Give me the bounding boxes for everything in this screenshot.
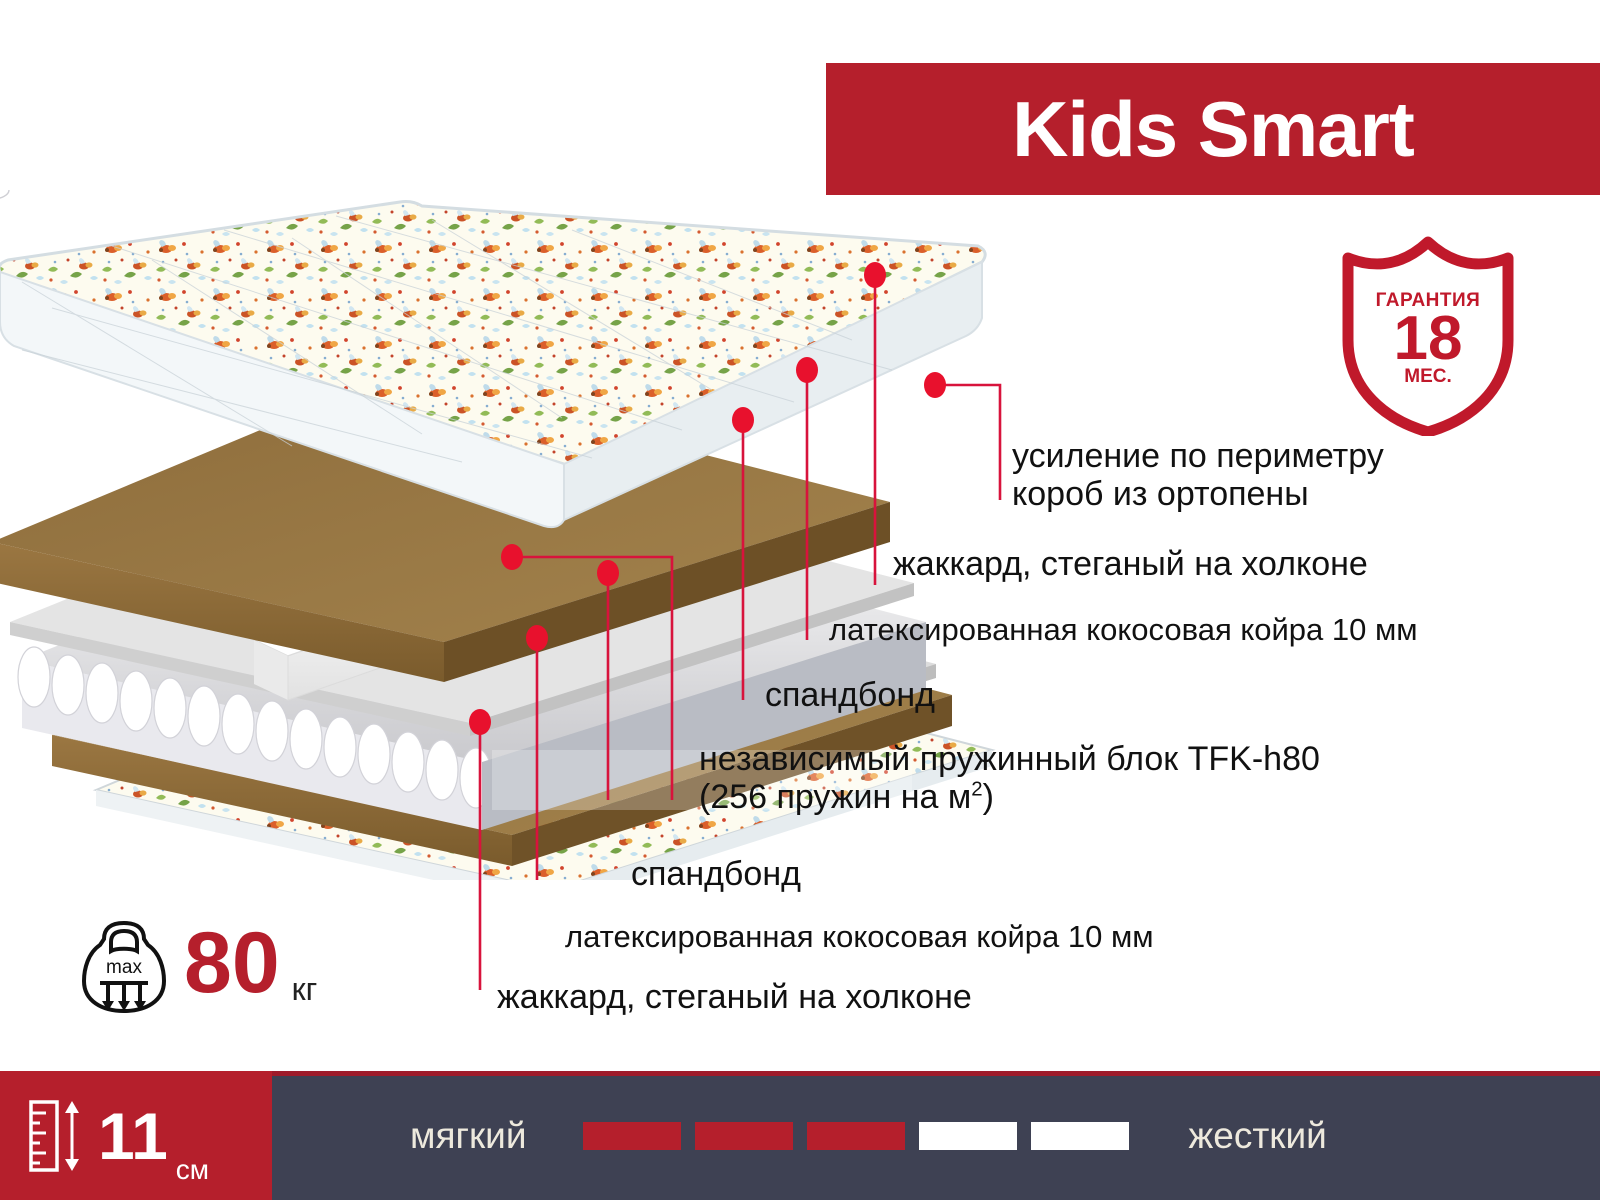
callout-label-coir-bottom: латексированная кокосовая койра 10 мм (565, 920, 1154, 955)
firmness-segment-5 (1031, 1122, 1129, 1150)
max-weight-unit: кг (292, 971, 318, 1008)
max-weight-indicator: max 80 кг (78, 905, 498, 1020)
firmness-segment-3 (807, 1122, 905, 1150)
firmness-segment-4 (919, 1122, 1017, 1150)
firmness-soft-label: мягкий (410, 1115, 527, 1157)
callout-label-perimeter: усиление по периметру короб из ортопены (1012, 437, 1384, 513)
callout-label-coir-top: латексированная кокосовая койра 10 мм (829, 613, 1418, 648)
product-title-bar: Kids Smart (826, 63, 1600, 195)
warranty-shield-badge: ГАРАНТИЯ 18 МЕС. (1338, 236, 1518, 436)
shield-value: 18 (1394, 310, 1463, 369)
firmness-segment-2 (695, 1122, 793, 1150)
kettlebell-max-label: max (106, 957, 142, 978)
ruler-icon (28, 1099, 86, 1173)
mattress-height-unit: см (176, 1154, 209, 1186)
max-weight-value: 80 (184, 920, 280, 1006)
firmness-segment-1 (583, 1122, 681, 1150)
callout-label-jacquard-top: жаккард, стеганый на холконе (893, 545, 1368, 583)
footer-bar: 11 см мягкий жесткий (0, 1071, 1600, 1200)
callout-label-jacquard-bottom: жаккард, стеганый на холконе (497, 978, 972, 1016)
mattress-height-value: 11 (98, 1103, 168, 1169)
kettlebell-icon: max (78, 909, 170, 1017)
firmness-segments (583, 1122, 1129, 1150)
callout-label-springblock: независимый пружинный блок TFK-h80 (256 … (699, 740, 1320, 816)
shield-unit: МЕС. (1404, 366, 1452, 388)
callout-label-spunbond-top: спандбонд (765, 676, 935, 714)
callout-label-spunbond-bottom: спандбонд (631, 855, 801, 893)
firmness-hard-label: жесткий (1189, 1115, 1327, 1157)
mattress-height-block: 11 см (0, 1071, 272, 1200)
firmness-scale: мягкий жесткий (272, 1071, 1600, 1200)
page-title: Kids Smart (1012, 90, 1414, 168)
